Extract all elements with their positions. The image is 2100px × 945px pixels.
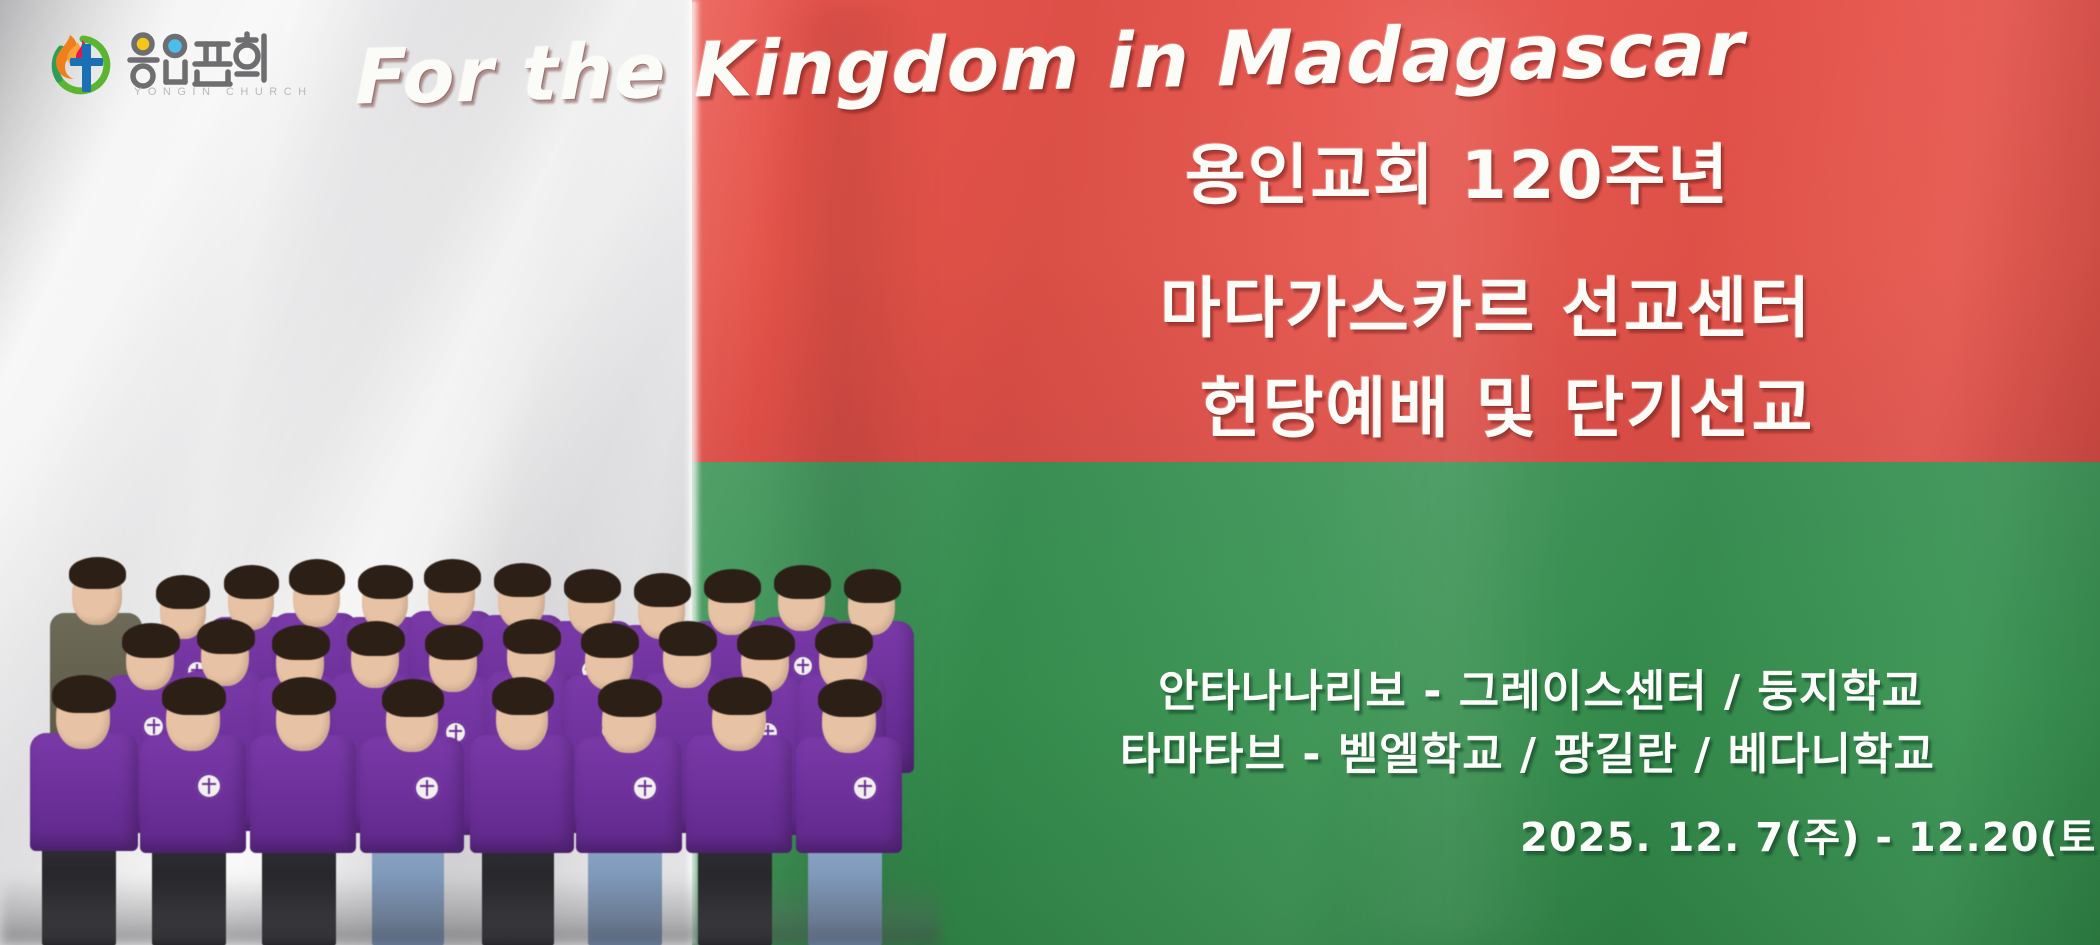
photo-floor-shadow	[0, 875, 940, 945]
flag-edge-shadow	[1950, 0, 2100, 945]
poster-title-korean-line3: 헌당예배 및 단기선교	[1200, 355, 1814, 451]
detail-line-tamatave: 타마타브 - 벧엘학교 / 팡길란 / 베다니학교	[1120, 718, 1935, 782]
mission-poster: YONGIN CHURCH For the Kingdom in Madagas…	[0, 0, 2100, 945]
detail-line-antananarivo: 안타나나리보 - 그레이스센터 / 둥지학교	[1158, 655, 1923, 719]
poster-title-korean-line2: 마다가스카르 선교센터	[1160, 255, 1812, 351]
logo-wordmark	[130, 34, 264, 86]
logo-subtext: YONGIN CHURCH	[134, 86, 313, 98]
yongin-church-logo[interactable]: YONGIN CHURCH	[42, 22, 272, 104]
poster-title-korean-line1: 용인교회 120주년	[1185, 122, 1730, 218]
mission-team-group-photo	[0, 525, 940, 945]
event-date: 2025. 12. 7(주) - 12.20(토)	[1520, 805, 2100, 863]
